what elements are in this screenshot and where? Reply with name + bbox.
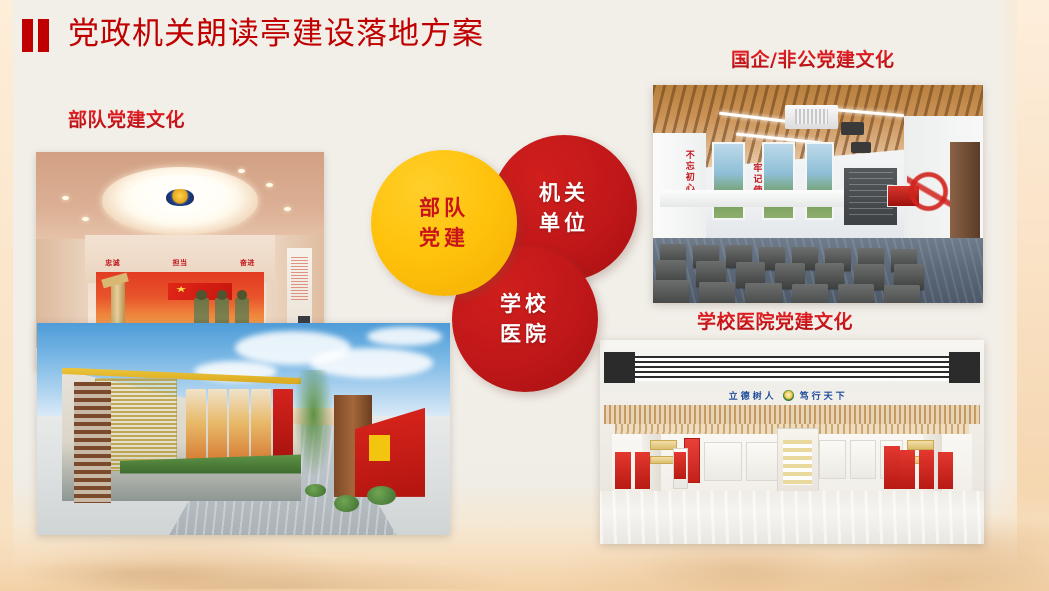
- circle-school-line1: 学校: [500, 289, 550, 319]
- title-marker-bars: [22, 19, 50, 52]
- caption-school-hospital-party-culture: 学校医院党建文化: [697, 307, 853, 334]
- lobby-banner-left: 立德树人: [729, 389, 777, 402]
- diagram-circle-army[interactable]: 部队 党建: [371, 150, 517, 296]
- hall-slogan-3: 奋进: [240, 258, 255, 268]
- title-bar-1: [22, 19, 33, 52]
- circle-school-line2: 医院: [500, 319, 550, 349]
- caption-soe-party-culture: 国企/非公党建文化: [731, 45, 894, 72]
- ceiling-ac-unit: [785, 105, 838, 129]
- hall-slogan-2: 担当: [172, 258, 187, 268]
- lobby-banner-right: 笃行天下: [800, 389, 848, 402]
- page-title: 党政机关朗读亭建设落地方案: [68, 14, 484, 54]
- circle-army-line1: 部队: [419, 193, 469, 223]
- hall-slogan-row: 忠诚 担当 奋进: [105, 254, 255, 271]
- photo-school-hospital-lobby: 立德树人 笃行天下: [600, 340, 984, 544]
- photo-party-culture-corridor: [37, 323, 450, 535]
- chair-rows: [653, 198, 983, 303]
- caption-army-party-culture: 部队党建文化: [68, 105, 185, 132]
- slide-canvas: 党政机关朗读亭建设落地方案 部队党建文化 国企/非公党建文化 学校医院党建文化 …: [0, 0, 1049, 591]
- wall-calligraphy-left: 不忘初心: [683, 150, 694, 194]
- photo-soe-lecture-room: 不忘初心 牢记使命: [653, 85, 983, 303]
- circle-army-line2: 党建: [419, 223, 469, 253]
- lobby-banner: 立德树人 笃行天下: [669, 387, 907, 403]
- police-emblem-icon: [166, 189, 195, 206]
- school-badge-icon: [783, 390, 794, 401]
- circle-agency-line2: 单位: [539, 208, 589, 238]
- title-bar-2: [38, 19, 49, 52]
- reading-booth-structure: [777, 428, 819, 495]
- hall-slogan-1: 忠诚: [105, 258, 120, 268]
- circle-agency-line1: 机关: [539, 178, 589, 208]
